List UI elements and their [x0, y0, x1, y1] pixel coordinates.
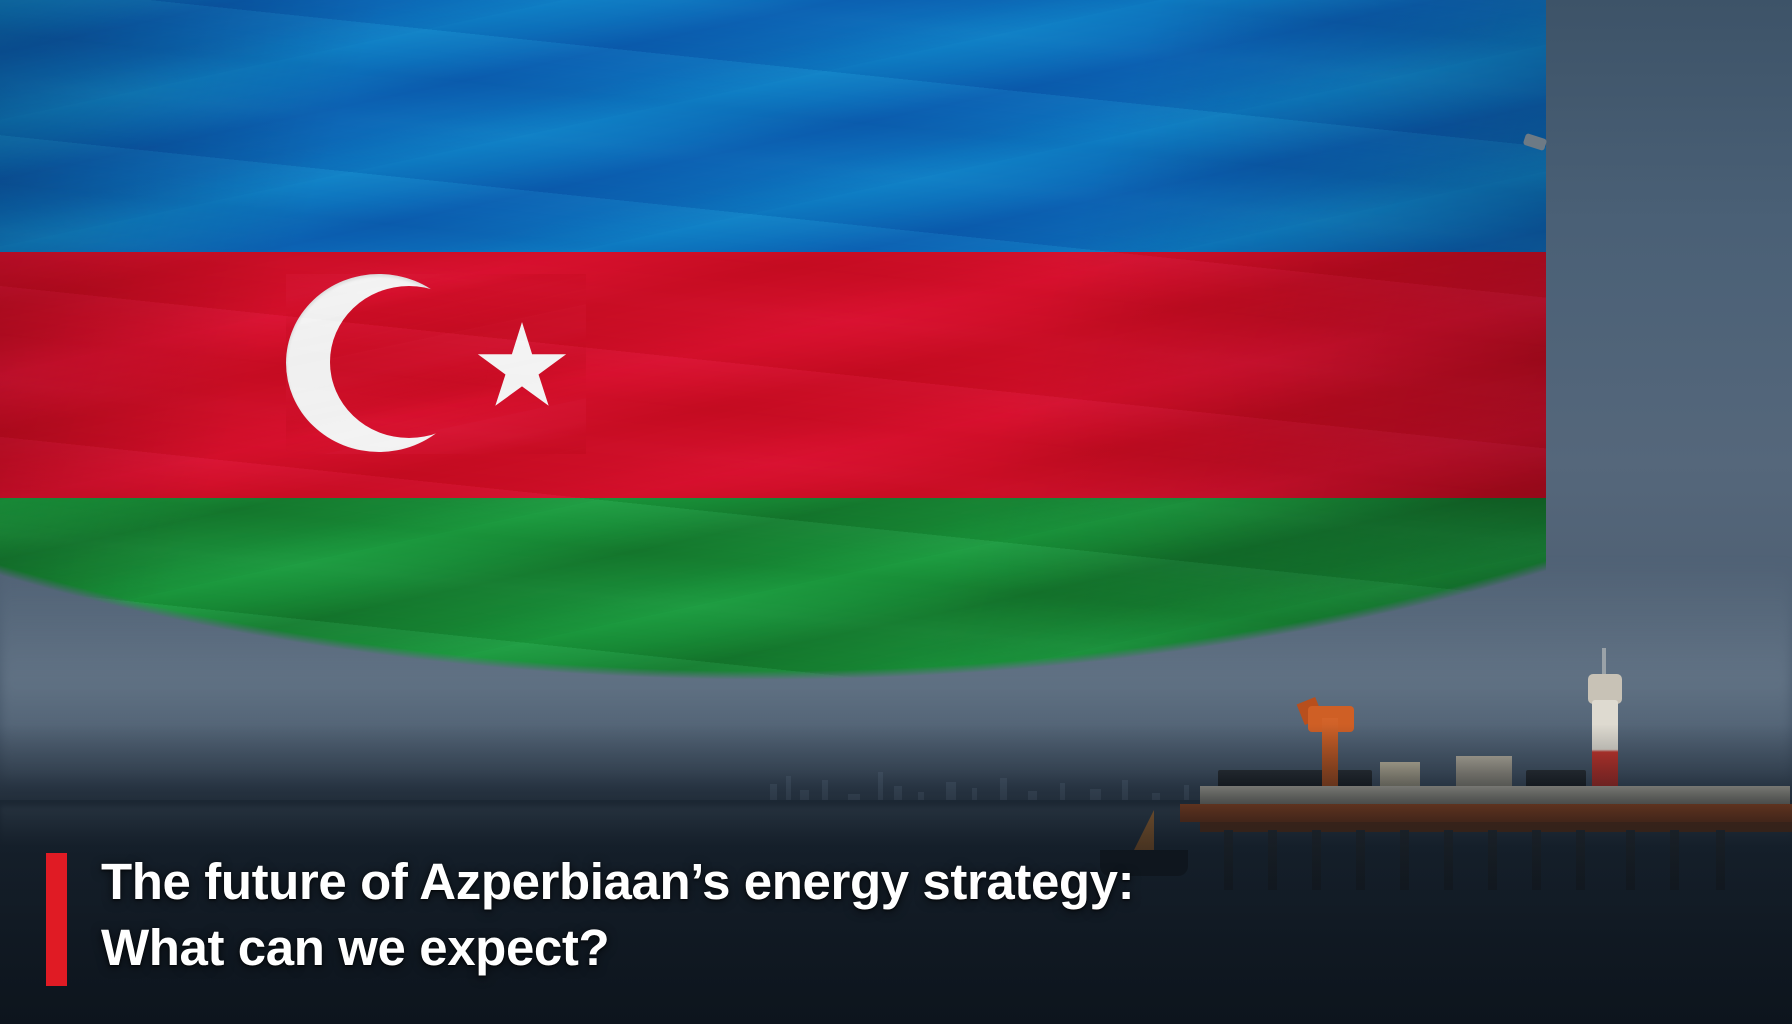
headline-line-1: The future of Azperbiaan’s energy strate… [101, 849, 1134, 915]
title-card: The future of Azperbiaan’s energy strate… [0, 0, 1792, 1024]
flag-cloth [0, 0, 1546, 736]
pier-piling [1626, 830, 1635, 890]
flag-shading [0, 0, 1546, 736]
pier-piling [1576, 830, 1585, 890]
pier-beam [1180, 804, 1792, 822]
headline-line-2: What can we expect? [101, 915, 1134, 981]
headline-block: The future of Azperbiaan’s energy strate… [46, 849, 1546, 986]
accent-bar [46, 853, 67, 986]
pier-piling [1670, 830, 1679, 890]
pier-piling [1716, 830, 1725, 890]
azerbaijan-flag [0, 0, 1546, 736]
headline-text: The future of Azperbiaan’s energy strate… [101, 849, 1134, 982]
